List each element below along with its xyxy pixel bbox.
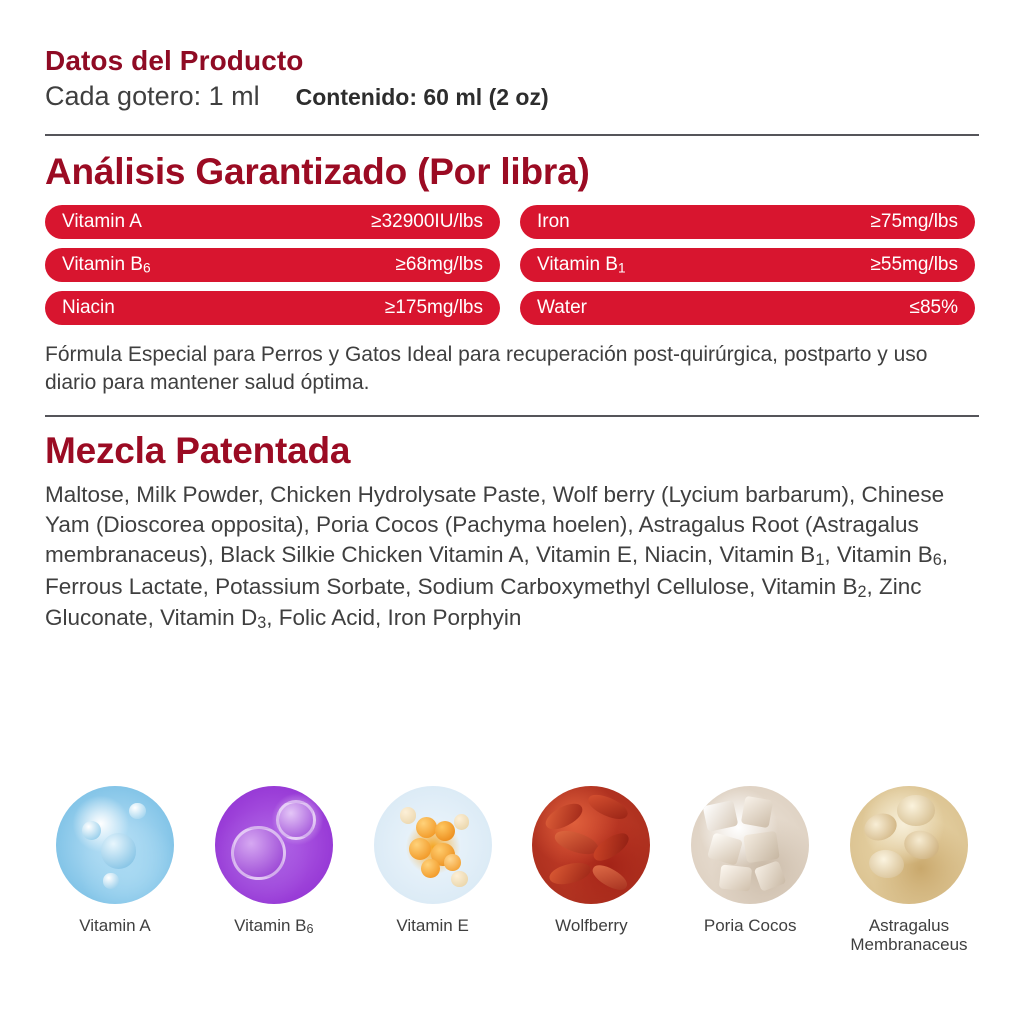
nutrient-pill: Vitamin B6 ≥68mg/lbs — [45, 248, 500, 282]
formula-description: Fórmula Especial para Perros y Gatos Ide… — [45, 341, 945, 396]
nutrient-name: Iron — [537, 211, 570, 233]
proprietary-blend-title: Mezcla Patentada — [45, 431, 979, 472]
guaranteed-analysis-title: Análisis Garantizado (Por libra) — [45, 152, 979, 193]
ingredient-gallery: Vitamin A Vitamin B6 Vitamin E — [45, 786, 979, 954]
ingredient-label: Vitamin B6 — [234, 916, 313, 936]
ingredient-item: Wolfberry — [521, 786, 661, 954]
nutrient-pill: Vitamin B1 ≥55mg/lbs — [520, 248, 975, 282]
nutrient-name: Vitamin A — [62, 211, 142, 233]
ingredient-label: Poria Cocos — [704, 916, 797, 935]
vitamin-e-softgel-icon — [374, 786, 492, 904]
ingredient-item: Astragalus Membranaceus — [839, 786, 979, 954]
poria-cocos-icon — [691, 786, 809, 904]
nutrient-value: ≥175mg/lbs — [385, 297, 483, 319]
nutrient-pill-grid: Vitamin A ≥32900IU/lbs Iron ≥75mg/lbs Vi… — [45, 205, 979, 325]
ingredient-list-text: Maltose, Milk Powder, Chicken Hydrolysat… — [45, 480, 979, 634]
ingredient-item: Poria Cocos — [680, 786, 820, 954]
product-facts-row: Cada gotero: 1 ml Contenido: 60 ml (2 oz… — [45, 81, 979, 112]
nutrient-pill: Vitamin A ≥32900IU/lbs — [45, 205, 500, 239]
proprietary-blend-section: Mezcla Patentada Maltose, Milk Powder, C… — [45, 417, 979, 635]
nutrient-pill: Iron ≥75mg/lbs — [520, 205, 975, 239]
nutrient-name: Vitamin B6 — [62, 254, 151, 276]
ingredient-item: Vitamin A — [45, 786, 185, 954]
wolfberry-icon — [532, 786, 650, 904]
ingredient-item: Vitamin E — [363, 786, 503, 954]
nutrient-name: Vitamin B1 — [537, 254, 626, 276]
ingredient-label: Astragalus Membranaceus — [839, 916, 979, 954]
nutrient-name: Water — [537, 297, 587, 319]
product-facts-section: Datos del Producto Cada gotero: 1 ml Con… — [45, 0, 979, 112]
nutrient-value: ≥32900IU/lbs — [371, 211, 483, 233]
ingredient-label: Wolfberry — [555, 916, 627, 935]
dropper-size-text: Cada gotero: 1 ml — [45, 81, 260, 112]
nutrient-name: Niacin — [62, 297, 115, 319]
nutrient-value: ≥68mg/lbs — [395, 254, 483, 276]
nutrient-value: ≥75mg/lbs — [870, 211, 958, 233]
product-label-page: Datos del Producto Cada gotero: 1 ml Con… — [0, 0, 1024, 1024]
product-facts-title: Datos del Producto — [45, 46, 979, 75]
ingredient-item: Vitamin B6 — [204, 786, 344, 954]
net-contents-text: Contenido: 60 ml (2 oz) — [296, 84, 549, 111]
nutrient-pill: Niacin ≥175mg/lbs — [45, 291, 500, 325]
ingredient-label: Vitamin E — [396, 916, 468, 935]
guaranteed-analysis-section: Análisis Garantizado (Por libra) Vitamin… — [45, 136, 979, 396]
vitamin-b6-molecule-icon — [215, 786, 333, 904]
ingredient-label: Vitamin A — [79, 916, 151, 935]
astragalus-root-icon — [850, 786, 968, 904]
nutrient-pill: Water ≤85% — [520, 291, 975, 325]
vitamin-a-molecule-icon — [56, 786, 174, 904]
nutrient-value: ≥55mg/lbs — [870, 254, 958, 276]
nutrient-value: ≤85% — [910, 297, 958, 319]
